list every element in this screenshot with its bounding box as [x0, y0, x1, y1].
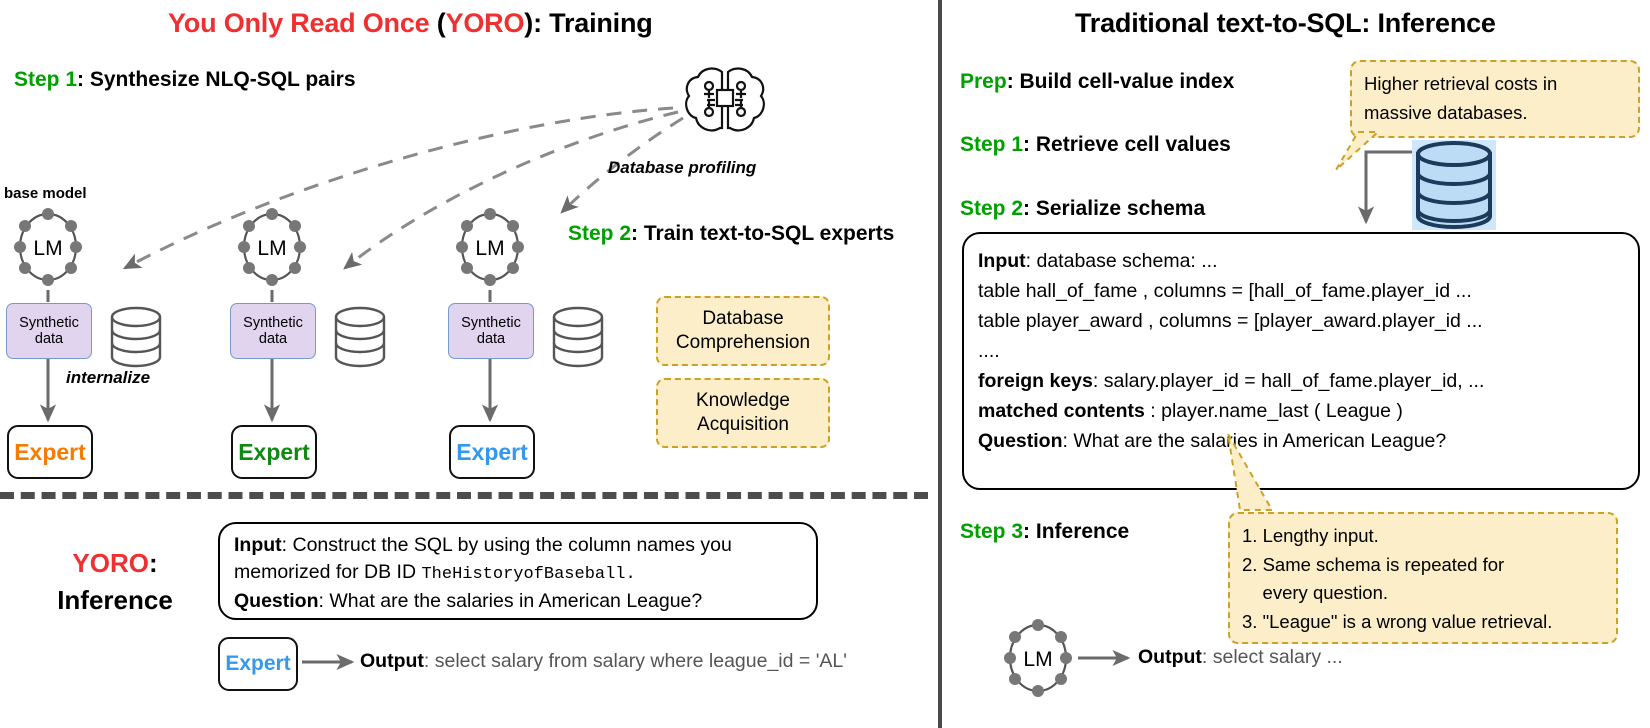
expert-box-3[interactable]: Expert: [449, 425, 535, 479]
schema-l1-text: : database schema: ...: [1026, 250, 1218, 272]
syn-label-2b: data: [259, 331, 287, 347]
callout-retrieval-costs: Higher retrieval costs in massive databa…: [1350, 60, 1640, 138]
right-prep-label: Prep: [960, 70, 1007, 93]
svg-text:LM: LM: [1023, 648, 1052, 671]
right-prep: Prep: Build cell-value index: [960, 70, 1234, 94]
left-step1-text: : Synthesize NLQ-SQL pairs: [77, 68, 356, 91]
left-title-paren-open: (: [429, 8, 445, 38]
right-output-text: : select salary ...: [1202, 646, 1343, 668]
yoro-output-key: Output: [360, 650, 424, 672]
note-database-comprehension: Database Comprehension: [656, 296, 830, 366]
left-title-rest: ): Training: [524, 8, 652, 38]
schema-line-4: ....: [978, 336, 1624, 366]
callout-bottom-tail: [1226, 432, 1316, 522]
right-step1-text: : Retrieve cell values: [1023, 133, 1231, 156]
synthetic-data-box-2: Synthetic data: [230, 303, 316, 359]
schema-l1-key: Input: [978, 250, 1026, 272]
right-step3: Step 3: Inference: [960, 520, 1129, 544]
yoro-colon: :: [149, 548, 158, 578]
yoro-input-line2: memorized for DB ID TheHistoryofBaseball…: [234, 559, 802, 588]
lm-node-2: LM: [234, 204, 310, 290]
database-blue-icon: [1412, 140, 1496, 235]
schema-l6-key: matched contents: [978, 400, 1145, 422]
note-db-line2: Comprehension: [676, 331, 810, 355]
svg-text:LM: LM: [475, 237, 504, 260]
right-step1: Step 1: Retrieve cell values: [960, 133, 1231, 157]
schema-l5-key: foreign keys: [978, 370, 1093, 392]
schema-line-3: table player_award , columns = [player_a…: [978, 306, 1624, 336]
yoro-db-id: TheHistoryofBaseball.: [421, 565, 635, 584]
right-output-line: Output: select salary ...: [1138, 644, 1343, 671]
yoro-input-box: Input: Construct the SQL by using the co…: [218, 522, 818, 620]
left-step1: Step 1: Synthesize NLQ-SQL pairs: [14, 68, 356, 92]
left-step2: Step 2: Train text-to-SQL experts: [568, 222, 894, 246]
expert-box-inference[interactable]: Expert: [218, 637, 298, 691]
callout-bottom-line3: every question.: [1242, 579, 1604, 608]
panel-divider: [938, 0, 942, 728]
database-cylinder-icon-2: [332, 306, 388, 368]
schema-line-5: foreign keys: salary.player_id = hall_of…: [978, 366, 1624, 396]
yoro-input-key: Input: [234, 534, 282, 556]
internalize-label: internalize: [66, 368, 150, 388]
syn-label-3b: data: [477, 331, 505, 347]
yoro-input-line1: Input: Construct the SQL by using the co…: [234, 532, 802, 559]
lm-node-3: LM: [452, 204, 528, 290]
yoro-question-key: Question: [234, 590, 319, 612]
database-cylinder-icon-1: [108, 306, 164, 368]
left-title-acronym: YORO: [446, 8, 525, 38]
inference-label: Inference: [30, 585, 200, 616]
note-db-line1: Database: [702, 307, 783, 331]
syn-label-3a: Synthetic: [461, 315, 521, 331]
base-model-label: base model: [4, 185, 87, 202]
yoro-question-line: Question: What are the salaries in Ameri…: [234, 588, 802, 615]
yoro-label: YORO: [72, 548, 149, 578]
callout-top-line2: massive databases.: [1364, 99, 1626, 128]
callout-bottom-line2: 2. Same schema is repeated for: [1242, 551, 1604, 580]
schema-line-2: table hall_of_fame , columns = [hall_of_…: [978, 276, 1624, 306]
note-ka-line1: Knowledge: [696, 389, 790, 413]
yoro-inference-label: YORO: Inference: [30, 548, 200, 616]
yoro-question-text: : What are the salaries in American Leag…: [319, 590, 703, 612]
brain-icon: [682, 62, 768, 140]
callout-top-tail: [1320, 130, 1390, 175]
left-panel-title: You Only Read Once (YORO): Training: [168, 8, 653, 39]
schema-line-6: matched contents : player.name_last ( Le…: [978, 396, 1624, 426]
note-knowledge-acquisition: Knowledge Acquisition: [656, 378, 830, 448]
right-prep-text: : Build cell-value index: [1007, 70, 1235, 93]
yoro-input-text1: : Construct the SQL by using the column …: [282, 534, 732, 556]
right-step2-text: : Serialize schema: [1023, 197, 1205, 220]
schema-line-1: Input: database schema: ...: [978, 246, 1624, 276]
synthetic-data-box-3: Synthetic data: [448, 303, 534, 359]
right-step2-label: Step 2: [960, 197, 1023, 220]
schema-l5-text: : salary.player_id = hall_of_fame.player…: [1093, 370, 1484, 392]
synthetic-data-box-1: Synthetic data: [6, 303, 92, 359]
right-step1-label: Step 1: [960, 133, 1023, 156]
right-step2: Step 2: Serialize schema: [960, 197, 1205, 221]
yoro-output-line: Output: select salary from salary where …: [360, 648, 847, 675]
left-step2-text: : Train text-to-SQL experts: [631, 222, 894, 245]
section-divider-dashed: [0, 492, 928, 499]
lm-node-1: LM: [10, 204, 86, 290]
callout-bottom-line4: 3. "League" is a wrong value retrieval.: [1242, 608, 1604, 637]
right-output-key: Output: [1138, 646, 1202, 668]
schema-l6-text: : player.name_last ( League ): [1145, 400, 1403, 422]
callout-top-line1: Higher retrieval costs in: [1364, 70, 1626, 99]
callout-bottom-line1: 1. Lengthy input.: [1242, 522, 1604, 551]
syn-label-1a: Synthetic: [19, 315, 79, 331]
right-step3-text: : Inference: [1023, 520, 1129, 543]
yoro-output-text: : select salary from salary where league…: [424, 650, 847, 672]
expert-box-1[interactable]: Expert: [7, 425, 93, 479]
svg-text:LM: LM: [257, 237, 286, 260]
yoro-input-text2: memorized for DB ID: [234, 561, 421, 583]
syn-label-1b: data: [35, 331, 63, 347]
note-ka-line2: Acquisition: [697, 413, 789, 437]
schema-l7-key: Question: [978, 430, 1063, 452]
database-profiling-label: Database profiling: [608, 158, 756, 178]
lm-node-right: LM: [1000, 615, 1076, 701]
syn-label-2a: Synthetic: [243, 315, 303, 331]
callout-problems: 1. Lengthy input. 2. Same schema is repe…: [1228, 512, 1618, 644]
left-step2-label: Step 2: [568, 222, 631, 245]
right-step3-label: Step 3: [960, 520, 1023, 543]
expert-box-2[interactable]: Expert: [231, 425, 317, 479]
right-panel-title: Traditional text-to-SQL: Inference: [1075, 8, 1496, 39]
left-step1-label: Step 1: [14, 68, 77, 91]
svg-text:LM: LM: [33, 237, 62, 260]
left-title-main: You Only Read Once: [168, 8, 429, 38]
database-cylinder-icon-3: [550, 306, 606, 368]
